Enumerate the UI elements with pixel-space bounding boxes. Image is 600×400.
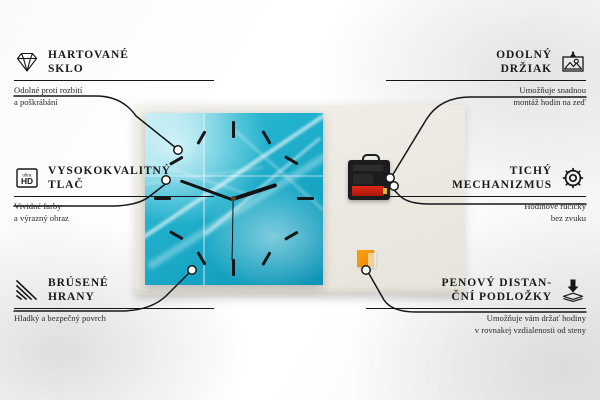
clock-mechanism (348, 160, 390, 200)
feature-desc-line1: Hladký a bezpečný povrch (14, 313, 214, 324)
feature-durable-hanger: ODOLNÝ DRŽIAK Umožňuje snadnou montáž ho… (386, 48, 586, 108)
infographic-canvas: HARTOVANÉ SKLO Odolné proti rozbití a po… (0, 0, 600, 400)
feature-divider (14, 80, 214, 81)
feature-title-line2: HRANY (48, 290, 109, 304)
clock-hand-second (231, 199, 233, 261)
feature-ground-edges: BRÚSENÉ HRANY Hladký a bezpečný povrch (14, 276, 214, 325)
feature-desc-line1: Vividné farby (14, 201, 214, 212)
feature-desc-line2: a poškrábání (14, 97, 214, 108)
mechanism-detail (353, 165, 383, 171)
feature-title-line2: ČNÍ PODLOŽKY (442, 290, 552, 304)
feature-divider (14, 308, 214, 309)
feature-title-line2: MECHANIZMUS (452, 178, 552, 192)
feature-title-line1: ODOLNÝ (496, 48, 552, 62)
feature-divider (386, 80, 586, 81)
feature-desc-line1: Odolné proti rozbití (14, 85, 214, 96)
feature-title-line1: PENOVÝ DISTAN- (442, 276, 552, 290)
clock-tick-6 (232, 259, 235, 276)
feature-desc-line1: Umožňuje vám držať hodiny (366, 313, 586, 324)
mechanism-hanger-lug (362, 154, 380, 164)
feature-title-line2: TLAČ (48, 178, 171, 192)
gear-icon (560, 166, 586, 190)
feature-tempered-glass: HARTOVANÉ SKLO Odolné proti rozbití a po… (14, 48, 214, 108)
clock-tick-8 (169, 231, 183, 241)
feature-desc-line1: Umožňuje snadnou (386, 85, 586, 96)
hatched-edge-icon (14, 278, 40, 302)
feature-divider (386, 196, 586, 197)
feature-divider (14, 196, 214, 197)
feature-high-quality-print: ultra HD VYSOKOKVALITNÝ TLAČ Vividné far… (14, 164, 214, 224)
foam-spacer-pad (357, 250, 374, 267)
feature-title-line2: DRŽIAK (496, 62, 552, 76)
clock-tick-7 (196, 251, 206, 265)
arrow-onto-stack-icon (560, 278, 586, 302)
feature-desc-line2: montáž hodin na zeď (386, 97, 586, 108)
feature-divider (366, 308, 586, 309)
feature-title-line1: BRÚSENÉ (48, 276, 109, 290)
feature-foam-spacers: PENOVÝ DISTAN- ČNÍ PODLOŽKY Umožňuje vám… (366, 276, 586, 336)
clock-tick-3 (297, 197, 314, 200)
clock-tick-12 (232, 121, 235, 138)
diamond-icon (14, 50, 40, 74)
feature-title-line1: HARTOVANÉ (48, 48, 129, 62)
feature-desc-line2: v rovnakej vzdialenosti od steny (366, 325, 586, 336)
feature-desc-line2: bez zvuku (386, 213, 586, 224)
feature-title-line1: VYSOKOKVALITNÝ (48, 164, 171, 178)
feature-desc-line2: a výrazný obraz (14, 213, 214, 224)
aa-battery (352, 186, 384, 196)
clock-tick-4 (284, 231, 298, 241)
feature-title-line2: SKLO (48, 62, 129, 76)
framed-picture-icon (560, 50, 586, 74)
clock-hand-hub (231, 196, 236, 201)
feature-desc-line1: Hodinové ručičky (386, 201, 586, 212)
feature-silent-mechanism: TICHÝ MECHANIZMUS Hodinové ručičky bez z… (386, 164, 586, 224)
clock-tick-1 (261, 130, 271, 144)
clock-tick-5 (261, 251, 271, 265)
feature-title-line1: TICHÝ (452, 164, 552, 178)
mechanism-detail (353, 174, 373, 184)
ultra-hd-icon: ultra HD (14, 166, 40, 190)
svg-text:HD: HD (21, 176, 33, 186)
